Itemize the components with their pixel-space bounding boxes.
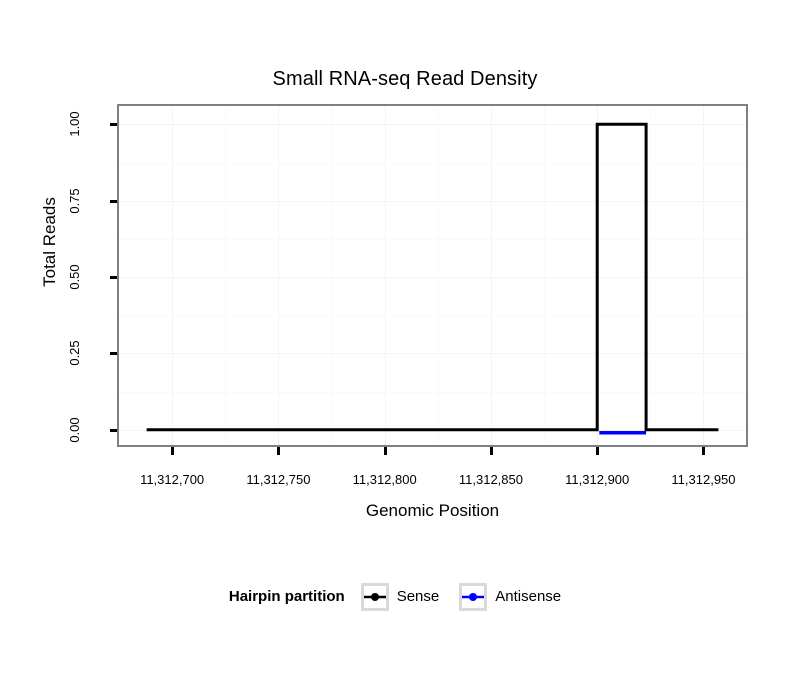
plot-panel — [117, 104, 748, 447]
x-tick-mark — [702, 447, 705, 455]
x-tick-mark — [171, 447, 174, 455]
legend-title: Hairpin partition — [229, 587, 345, 607]
y-tick-label: 0.50 — [68, 247, 82, 307]
x-tick-label: 11,312,950 — [638, 472, 768, 487]
legend: Hairpin partition SenseAntisense — [0, 583, 810, 611]
x-tick-mark — [384, 447, 387, 455]
data-layer — [119, 106, 746, 445]
chart-title: Small RNA-seq Read Density — [0, 66, 810, 92]
y-axis-title: Total Reads — [40, 162, 60, 322]
y-tick-mark — [110, 200, 117, 203]
legend-item-antisense[interactable]: Antisense — [459, 583, 581, 611]
y-tick-label: 1.00 — [68, 94, 82, 154]
y-tick-label: 0.25 — [68, 323, 82, 383]
y-tick-mark — [110, 352, 117, 355]
legend-label: Antisense — [495, 587, 561, 607]
y-tick-mark — [110, 429, 117, 432]
legend-items: SenseAntisense — [361, 583, 581, 611]
y-tick-label: 0.00 — [68, 400, 82, 460]
y-tick-mark — [110, 123, 117, 126]
x-tick-mark — [490, 447, 493, 455]
chart-plot: Small RNA-seq Read Density Total Reads G… — [0, 0, 810, 690]
legend-key-icon — [459, 583, 487, 611]
sense-line — [147, 124, 719, 429]
x-tick-mark — [277, 447, 280, 455]
y-tick-mark — [110, 276, 117, 279]
legend-item-sense[interactable]: Sense — [361, 583, 460, 611]
y-tick-label: 0.75 — [68, 171, 82, 231]
legend-key-icon — [361, 583, 389, 611]
legend-label: Sense — [397, 587, 440, 607]
plot-panel-inner — [119, 106, 746, 445]
x-tick-mark — [596, 447, 599, 455]
x-axis-title: Genomic Position — [117, 500, 748, 522]
